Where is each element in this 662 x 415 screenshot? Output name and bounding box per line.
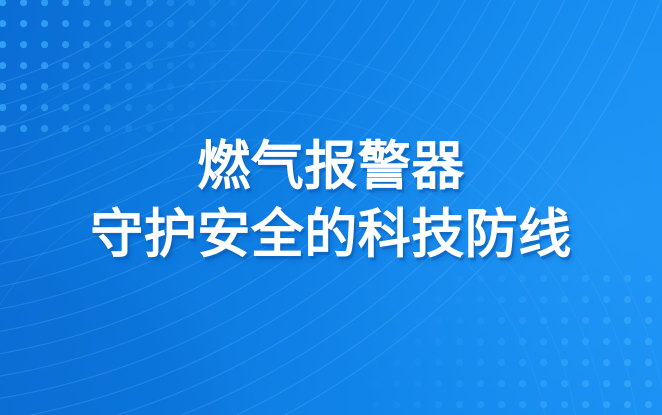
headline-block: 燃气报警器 守护安全的科技防线 — [0, 133, 662, 269]
dot-grid-top-left — [0, 0, 246, 136]
dot-grid-bottom-right — [368, 271, 662, 415]
headline-line-2: 守护安全的科技防线 — [0, 201, 662, 269]
headline-line-1: 燃气报警器 — [0, 133, 662, 201]
promo-banner: 燃气报警器 守护安全的科技防线 — [0, 0, 662, 415]
